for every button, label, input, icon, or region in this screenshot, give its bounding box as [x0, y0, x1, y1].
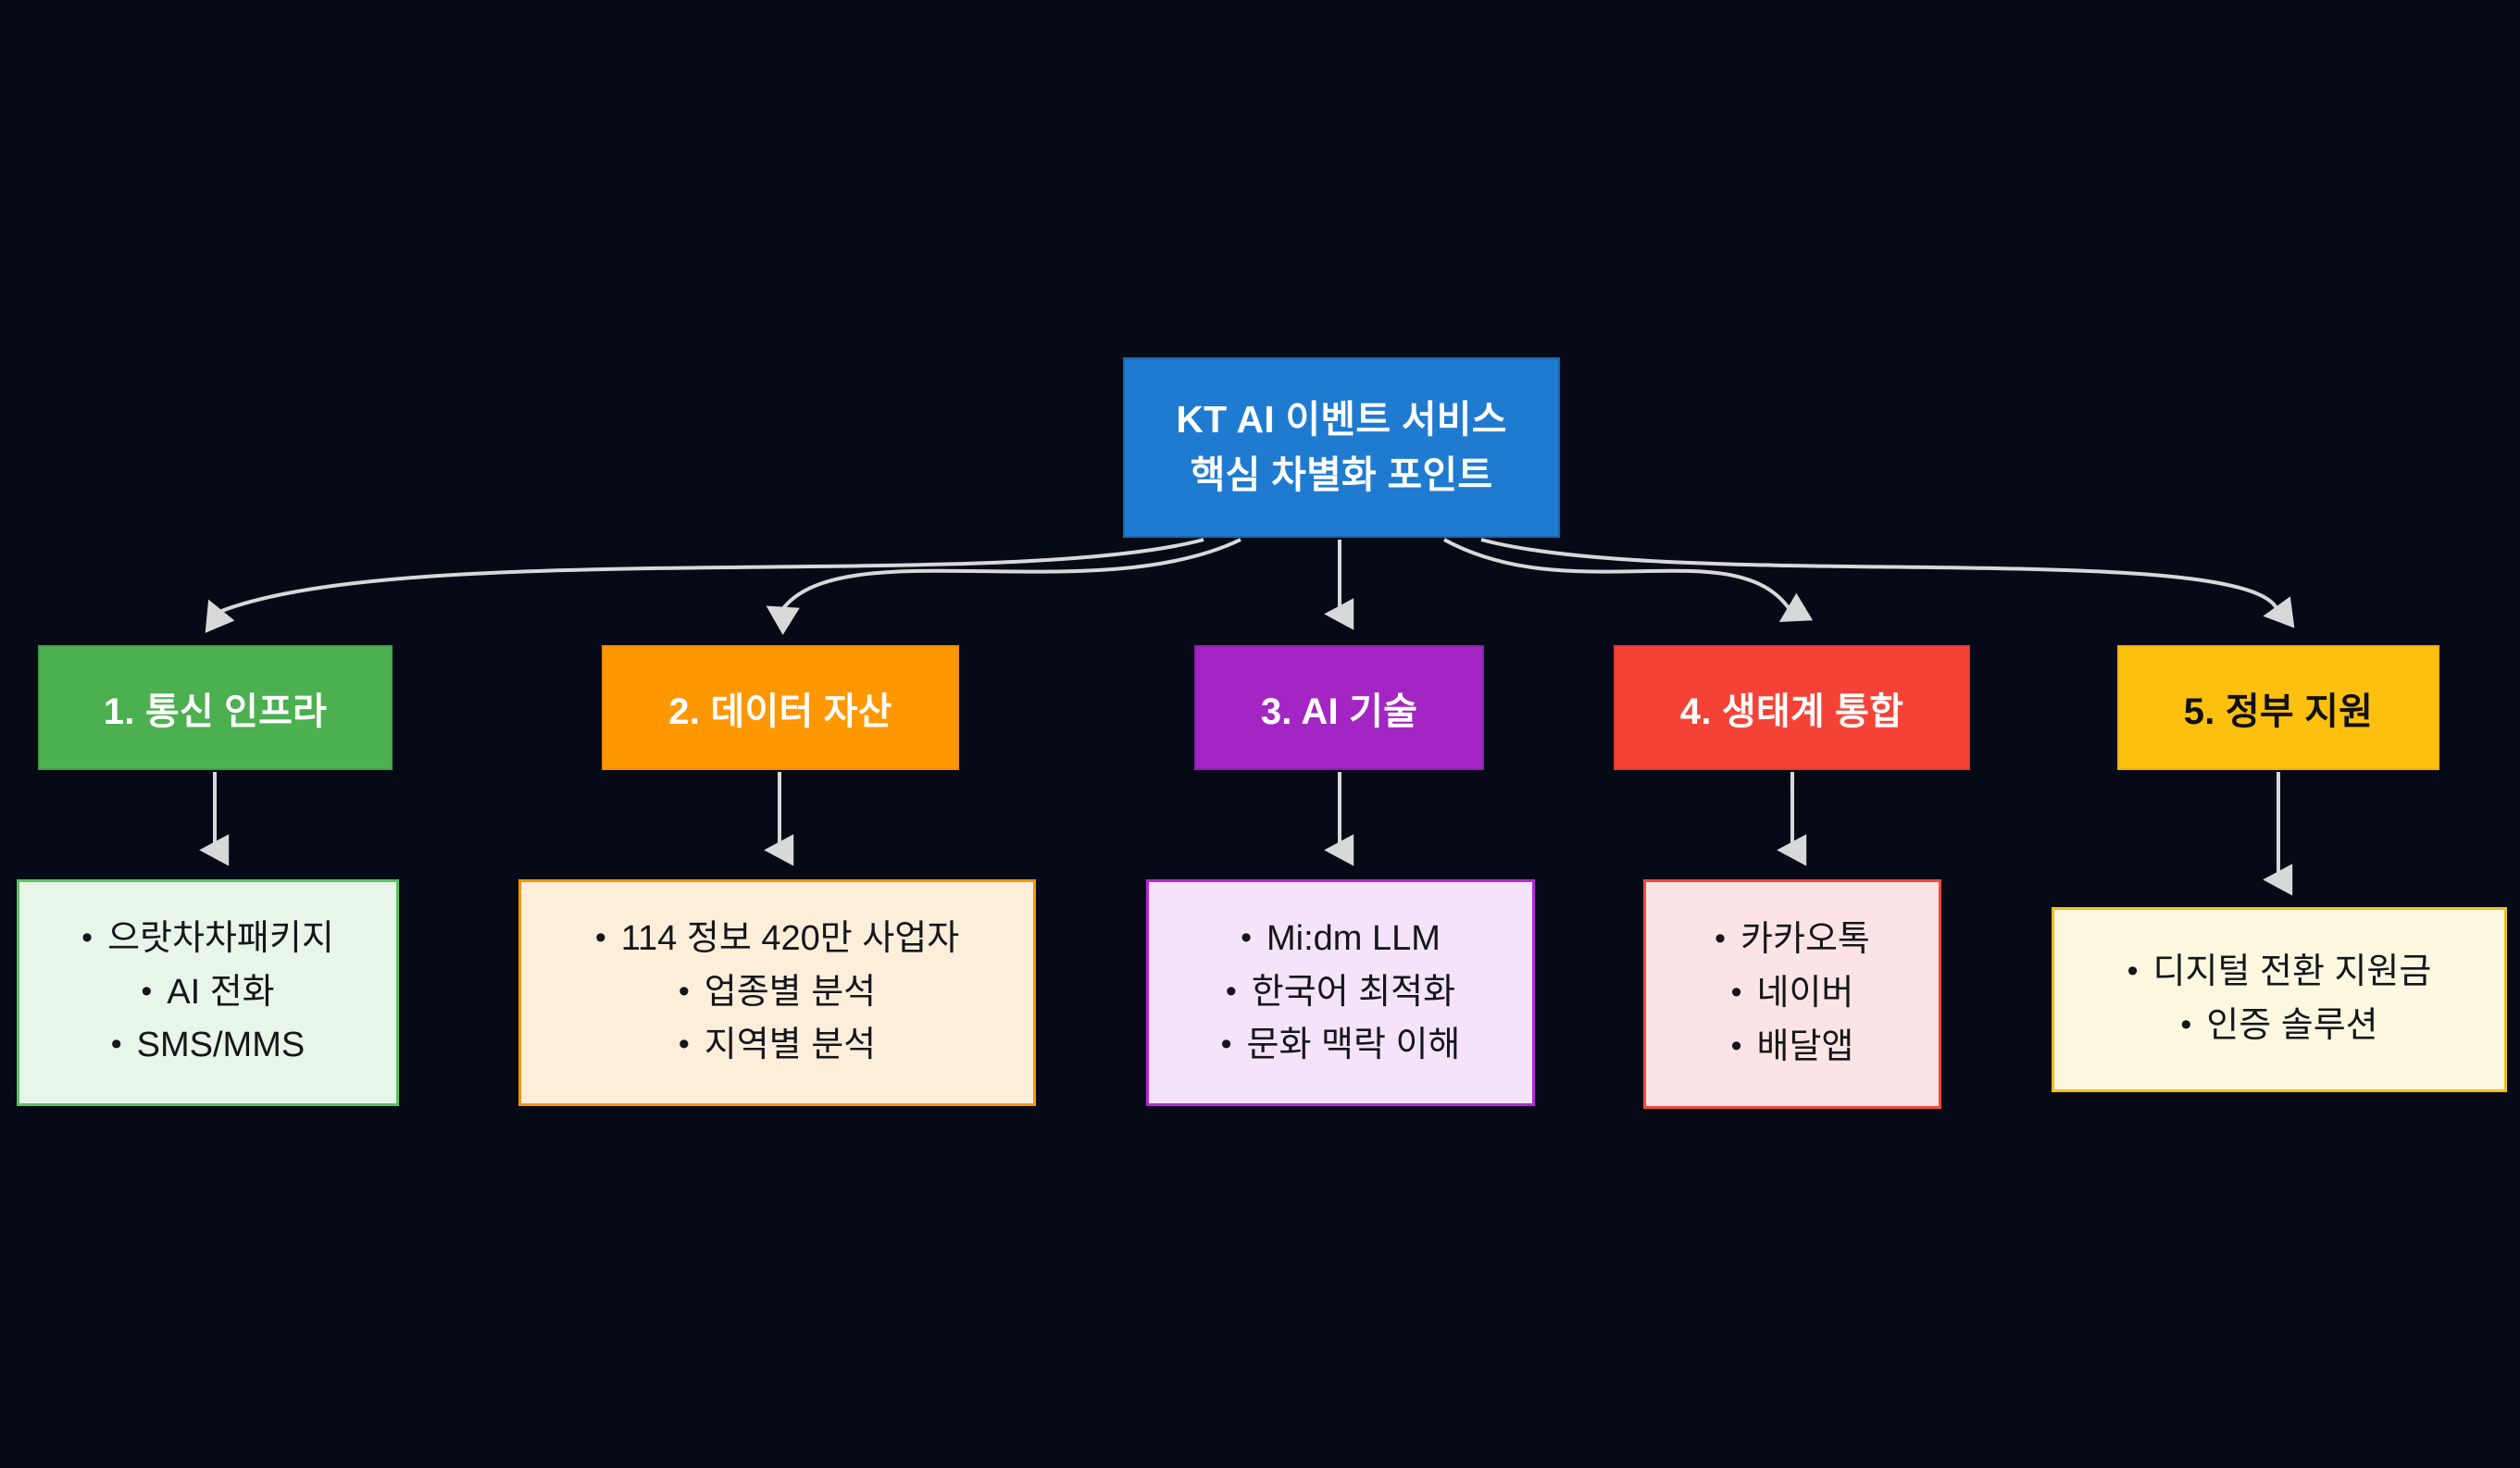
category-node-telecom-infra[interactable]: 1. 통신 인프라 — [38, 645, 393, 770]
list-item: 디지털 전환 지원금 — [2127, 946, 2432, 1000]
list-item: 업종별 분석 — [595, 966, 959, 1020]
detail-node-data-asset[interactable]: 114 정보 420만 사업자 업종별 분석 지역별 분석 — [518, 879, 1036, 1106]
list-item: 으랏차차패키지 — [81, 913, 334, 966]
list-item: 인증 솔루션 — [2127, 1000, 2432, 1053]
detail-list: 디지털 전환 지원금 인증 솔루션 — [2127, 946, 2432, 1053]
detail-list: 으랏차차패키지 AI 전화 SMS/MMS — [81, 913, 334, 1073]
list-item: Mi:dm LLM — [1221, 913, 1461, 966]
root-label-line1: KT AI 이벤트 서비스 — [1176, 398, 1506, 441]
detail-node-government-support[interactable]: 디지털 전환 지원금 인증 솔루션 — [2052, 907, 2507, 1092]
detail-node-ai-tech[interactable]: Mi:dm LLM 한국어 최적화 문화 맥락 이해 — [1146, 879, 1535, 1106]
list-item: 한국어 최적화 — [1221, 966, 1461, 1020]
edge-root-to-government-support — [1481, 540, 2278, 614]
root-node[interactable]: KT AI 이벤트 서비스 핵심 차별화 포인트 — [1123, 357, 1560, 538]
list-item: 114 정보 420만 사업자 — [595, 913, 959, 966]
detail-list: 114 정보 420만 사업자 업종별 분석 지역별 분석 — [595, 913, 959, 1073]
detail-list: Mi:dm LLM 한국어 최적화 문화 맥락 이해 — [1221, 913, 1461, 1073]
category-label: 2. 데이터 자산 — [668, 681, 892, 735]
diagram-canvas: KT AI 이벤트 서비스 핵심 차별화 포인트 1. 통신 인프라 2. 데이… — [0, 0, 2520, 1468]
list-item: SMS/MMS — [81, 1019, 334, 1073]
category-label: 3. AI 기술 — [1261, 681, 1417, 735]
list-item: 배달앱 — [1715, 1021, 1870, 1075]
detail-list: 카카오톡 네이버 배달앱 — [1715, 914, 1870, 1074]
category-node-government-support[interactable]: 5. 정부 지원 — [2117, 645, 2439, 770]
list-item: 네이버 — [1715, 967, 1870, 1021]
detail-node-telecom-infra[interactable]: 으랏차차패키지 AI 전화 SMS/MMS — [17, 879, 399, 1106]
detail-node-ecosystem-integration[interactable]: 카카오톡 네이버 배달앱 — [1643, 879, 1941, 1109]
category-node-ecosystem-integration[interactable]: 4. 생태계 통합 — [1614, 645, 1970, 770]
category-label: 1. 통신 인프라 — [104, 681, 327, 735]
edge-root-to-data-asset — [780, 540, 1241, 614]
list-item: AI 전화 — [81, 966, 334, 1020]
category-label: 5. 정부 지원 — [2184, 681, 2373, 735]
category-node-ai-tech[interactable]: 3. AI 기술 — [1194, 645, 1484, 770]
root-label-line2: 핵심 차별화 포인트 — [1176, 448, 1506, 503]
list-item: 지역별 분석 — [595, 1019, 959, 1073]
edge-root-to-ecosystem-integration — [1444, 540, 1792, 614]
category-label: 4. 생태계 통합 — [1680, 681, 1903, 735]
edge-root-to-telecom-infra — [215, 540, 1204, 614]
list-item: 카카오톡 — [1715, 914, 1870, 967]
list-item: 문화 맥락 이해 — [1221, 1019, 1461, 1073]
category-node-data-asset[interactable]: 2. 데이터 자산 — [602, 645, 959, 770]
